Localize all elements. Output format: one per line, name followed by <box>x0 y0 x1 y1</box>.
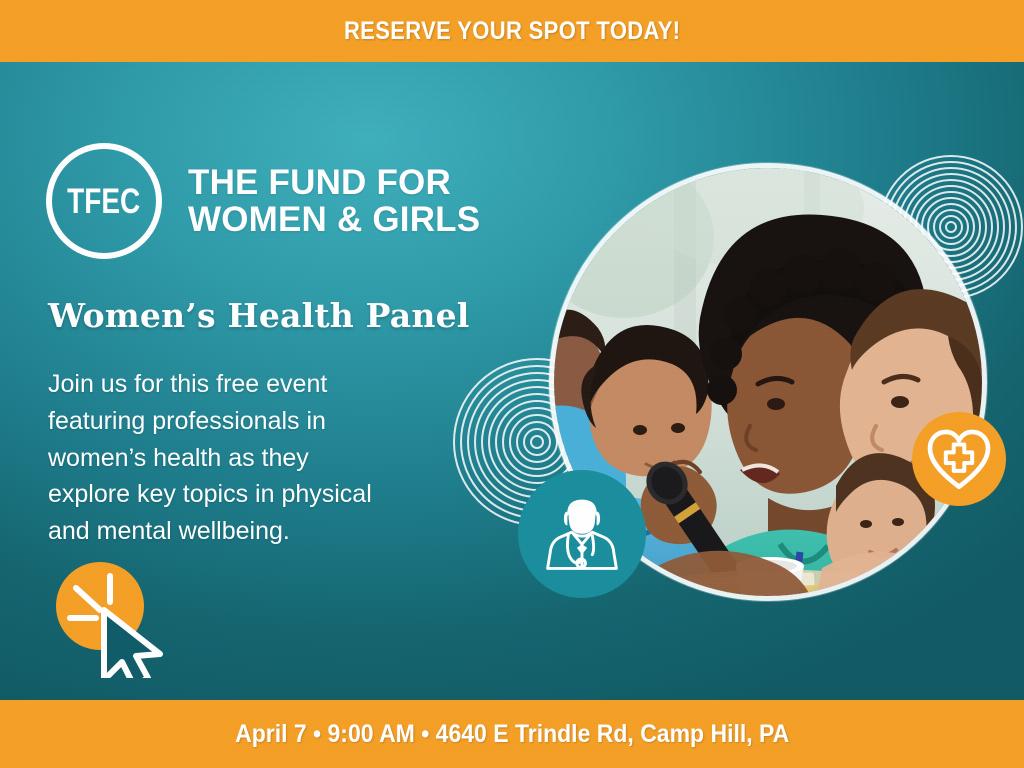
tfec-logo-line2: WOMEN & GIRLS <box>188 201 480 238</box>
event-title: Women’s Health Panel <box>48 296 470 335</box>
top-banner: RESERVE YOUR SPOT TODAY! <box>0 0 1024 62</box>
description-line: featuring professionals in <box>48 403 408 440</box>
bottom-banner: April 7 • 9:00 AM • 4640 E Trindle Rd, C… <box>0 700 1024 768</box>
heart-medical-badge <box>912 412 1006 506</box>
female-doctor-icon <box>539 491 625 577</box>
description-line: Join us for this free event <box>48 366 408 403</box>
event-description: Join us for this free event featuring pr… <box>48 366 408 550</box>
tfec-logo-wordmark: THE FUND FOR WOMEN & GIRLS <box>188 164 480 239</box>
event-flyer: RESERVE YOUR SPOT TODAY! <box>0 0 1024 768</box>
top-banner-text: RESERVE YOUR SPOT TODAY! <box>344 17 681 46</box>
tfec-logo: TFEC THE FUND FOR WOMEN & GIRLS <box>46 143 480 259</box>
heart-medical-cross-icon <box>926 428 992 490</box>
tfec-logo-line1: THE FUND FOR <box>188 164 480 201</box>
click-cursor-badge <box>48 558 188 678</box>
female-doctor-badge <box>518 470 646 598</box>
description-line: explore key topics in physical <box>48 476 408 513</box>
description-line: women’s health as they <box>48 440 408 477</box>
event-details-text: April 7 • 9:00 AM • 4640 E Trindle Rd, C… <box>235 720 789 749</box>
description-line: and mental wellbeing. <box>48 513 408 550</box>
tfec-logo-mark: TFEC <box>46 143 162 259</box>
tfec-logo-mark-text: TFEC <box>67 184 140 219</box>
click-cursor-icon <box>48 558 188 678</box>
